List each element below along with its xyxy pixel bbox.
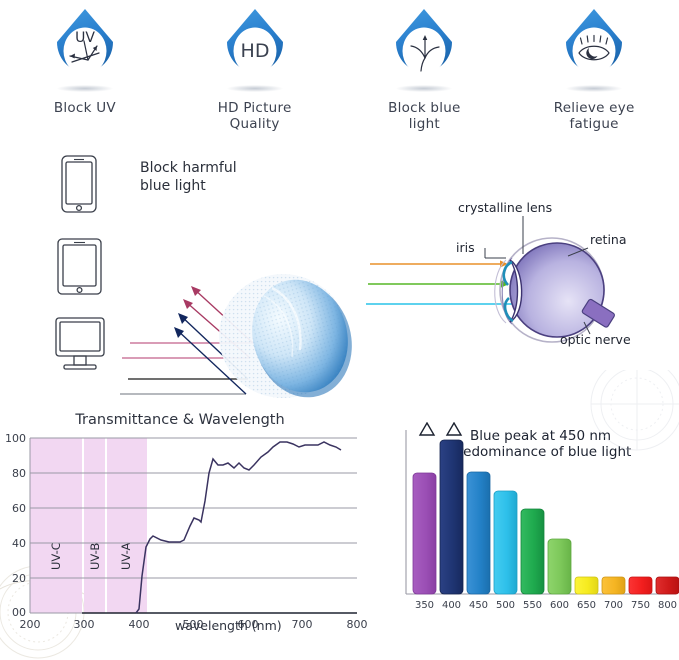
caption-line1: Block harmful <box>140 160 237 176</box>
feature-label-line1: Block UV <box>54 100 116 116</box>
svg-text:500: 500 <box>496 600 515 611</box>
feature-label-line1: Block blue <box>388 100 461 116</box>
triangle-marker-400 <box>420 423 434 435</box>
bar-700 <box>602 577 625 594</box>
svg-text:750: 750 <box>631 600 650 611</box>
svg-text:20: 20 <box>12 572 26 585</box>
feature-label-line1: Relieve eye <box>554 100 635 116</box>
label-optic-nerve: optic nerve <box>560 332 631 347</box>
svg-text:40: 40 <box>12 537 26 550</box>
caption-line2: blue light <box>140 178 206 194</box>
hd-quality-icon: HD <box>213 6 297 90</box>
feature-label: HD Picture Quality <box>218 100 292 133</box>
diagram-canvas <box>0 136 679 400</box>
monitor-icon <box>56 318 104 369</box>
feature-label: Block blue light <box>388 100 461 133</box>
feature-label: Relieve eye fatigue <box>554 100 635 133</box>
lens-eye-diagram: Block harmful blue light <box>0 136 679 400</box>
svg-text:300: 300 <box>74 618 95 631</box>
y-tick-labels: 100 80 60 40 20 00 <box>5 432 26 619</box>
label-crystalline-lens: crystalline lens <box>458 200 552 215</box>
feature-hd-picture-quality[interactable]: HD HD Picture Quality <box>170 0 340 136</box>
line-chart-title: Transmittance & Wavelength <box>0 412 360 428</box>
uv-b-band <box>84 438 105 613</box>
svg-text:350: 350 <box>415 600 434 611</box>
block-harmful-blue-light-caption: Block harmful blue light <box>140 160 320 195</box>
relieve-eye-fatigue-icon <box>552 6 636 90</box>
triangle-marker-450 <box>447 423 461 435</box>
uv-c-band-label: UV-C <box>49 542 63 570</box>
svg-text:800: 800 <box>347 618 368 631</box>
svg-text:550: 550 <box>523 600 542 611</box>
svg-text:200: 200 <box>20 618 41 631</box>
bar-x-tick-labels: 350 400 450 500 550 600 650 700 750 800 <box>415 600 677 611</box>
label-iris: iris <box>456 240 475 255</box>
line-chart-xlabel: wavelength (nm) <box>175 618 282 633</box>
smartphone-icon <box>62 156 96 212</box>
svg-text:600: 600 <box>550 600 569 611</box>
feature-icon-row: UV Block UV HD HD Picture Quality <box>0 0 679 136</box>
blue-light-block-icon <box>382 6 466 90</box>
uv-a-band-label: UV-A <box>119 542 133 570</box>
tablet-icon <box>58 239 101 294</box>
svg-text:400: 400 <box>442 600 461 611</box>
bar-550 <box>521 509 544 594</box>
uv-block-icon: UV <box>43 6 127 90</box>
bar-450 <box>467 472 490 594</box>
charts-section: Transmittance & Wavelength UV-C UV-B UV-… <box>0 400 679 654</box>
svg-text:700: 700 <box>292 618 313 631</box>
label-retina: retina <box>590 232 627 247</box>
uv-glyph-text: UV <box>75 30 95 46</box>
bar-600 <box>548 539 571 594</box>
svg-text:400: 400 <box>129 618 150 631</box>
bar-400 <box>440 440 463 594</box>
svg-text:800: 800 <box>658 600 677 611</box>
svg-text:700: 700 <box>604 600 623 611</box>
bar-650 <box>575 577 598 594</box>
bar-350 <box>413 473 436 594</box>
svg-text:80: 80 <box>12 467 26 480</box>
watermark-decoration-right <box>573 370 679 460</box>
svg-text:450: 450 <box>469 600 488 611</box>
transmittance-curve <box>136 442 341 613</box>
uv-c-band <box>30 438 82 613</box>
feature-label-line2: fatigue <box>569 116 618 132</box>
feature-label: Block UV <box>54 100 116 116</box>
svg-text:650: 650 <box>577 600 596 611</box>
feature-block-uv[interactable]: UV Block UV <box>0 0 170 136</box>
uv-b-band-label: UV-B <box>88 543 102 570</box>
feature-relieve-eye-fatigue[interactable]: Relieve eye fatigue <box>509 0 679 136</box>
peak-triangle-markers <box>420 423 461 435</box>
feature-label-line1: HD Picture <box>218 100 292 116</box>
feature-label-line2: Quality <box>230 116 280 132</box>
feature-label-line2: light <box>409 116 440 132</box>
svg-text:100: 100 <box>5 432 26 445</box>
bar-750 <box>629 577 652 594</box>
feature-block-blue-light[interactable]: Block blue light <box>340 0 510 136</box>
svg-text:60: 60 <box>12 502 26 515</box>
bar-500 <box>494 491 517 594</box>
hd-glyph-text: HD <box>240 40 269 62</box>
uv-bands: UV-C UV-B UV-A <box>30 438 147 613</box>
bar-group <box>413 440 679 594</box>
bar-800 <box>656 577 679 594</box>
